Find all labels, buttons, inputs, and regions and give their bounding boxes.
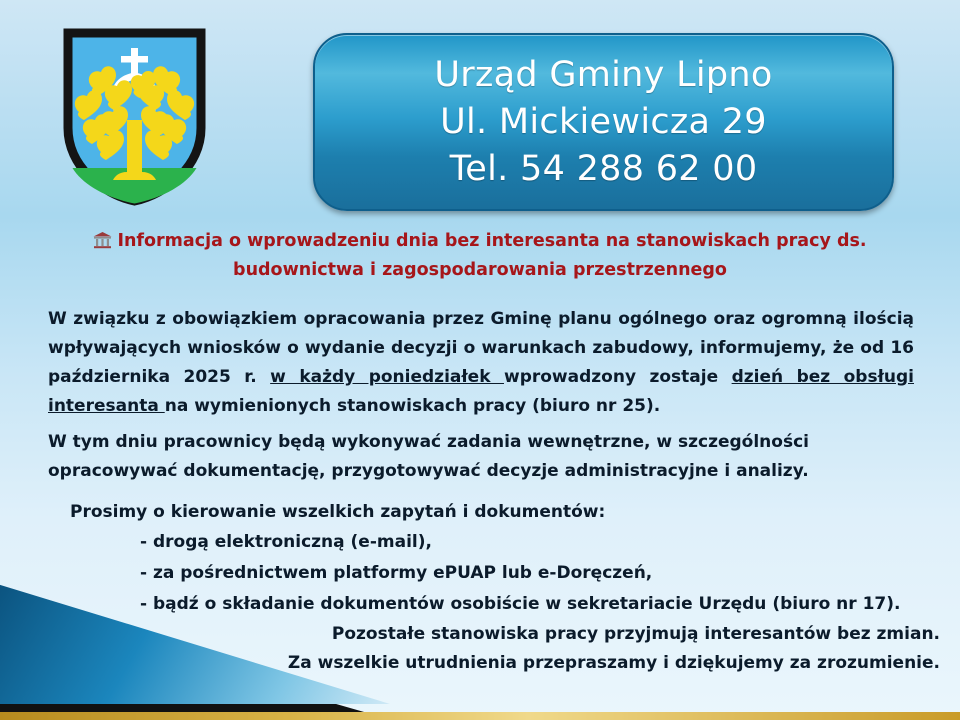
list-item: - drogą elektroniczną (e-mail), <box>140 527 930 558</box>
headline-block: Informacja o wprowadzeniu dnia bez inter… <box>48 228 912 283</box>
banner-line-phone: Tel. 54 288 62 00 <box>450 146 758 193</box>
banner-line-office: Urząd Gminy Lipno <box>434 52 772 99</box>
bottom-gold-stripe <box>0 712 960 720</box>
para1-underline-monday: w każdy poniedziałek <box>270 367 504 387</box>
page-title: Informacja o wprowadzeniu dnia bez inter… <box>48 228 912 283</box>
slide-canvas: Urząd Gminy Lipno Ul. Mickiewicza 29 Tel… <box>0 0 960 720</box>
herb-gminy-lipno-icon <box>63 28 206 206</box>
para1-part-c: na wymienionych stanowiskach pracy (biur… <box>165 396 661 416</box>
header-banner: Urząd Gminy Lipno Ul. Mickiewicza 29 Tel… <box>313 33 894 211</box>
paragraph-internal-work: W tym dniu pracownicy będą wykonywać zad… <box>48 428 878 486</box>
closing-line-other-posts: Pozostałe stanowiska pracy przyjmują int… <box>150 620 940 649</box>
list-item: - bądź o składanie dokumentów osobiście … <box>140 589 930 620</box>
bank-icon <box>93 231 112 257</box>
banner-line-address: Ul. Mickiewicza 29 <box>440 99 767 146</box>
list-item: - za pośrednictwem platformy ePUAP lub e… <box>140 558 930 589</box>
para1-part-b: wprowadzony zostaje <box>504 367 732 387</box>
paragraph-notice: W związku z obowiązkiem opracowania prze… <box>48 305 914 421</box>
headline-text: Informacja o wprowadzeniu dnia bez inter… <box>117 231 866 280</box>
paragraph-request: Prosimy o kierowanie wszelkich zapytań i… <box>70 498 930 527</box>
channel-list: - drogą elektroniczną (e-mail), - za poś… <box>140 527 930 620</box>
